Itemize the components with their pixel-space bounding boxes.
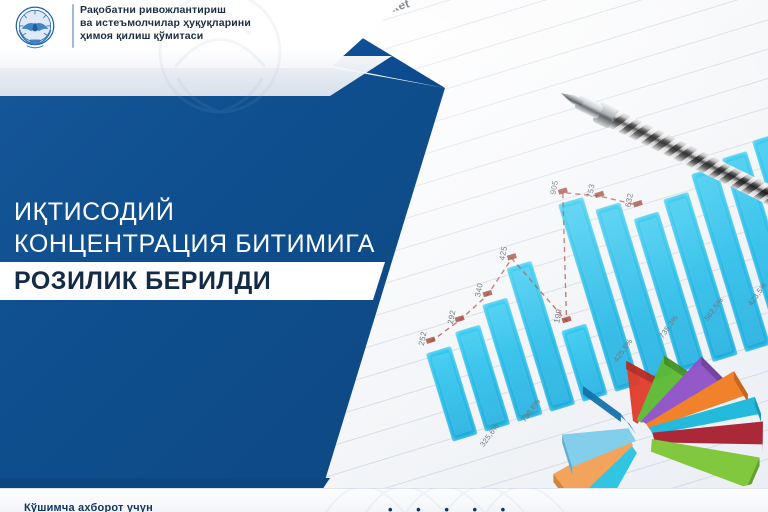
uzbekistan-state-emblem-icon: [8, 3, 62, 53]
organization-name: Рақобатни ривожлантириш ва истеъмолчилар…: [80, 4, 390, 43]
header-divider: [72, 4, 74, 48]
headline-line-3: РОЗИЛИК БЕРИЛДИ: [14, 268, 271, 295]
footer-dots: • • • • •: [388, 502, 515, 512]
organization-line-1: Рақобатни ривожлантириш: [80, 4, 390, 17]
headline-block: ИҚТИСОДИЙ КОНЦЕНТРАЦИЯ БИТИМИГА: [14, 196, 434, 260]
footer-caption: Кўшимча ахборот учун: [24, 502, 153, 512]
headline-line-1: ИҚТИСОДИЙ: [14, 196, 434, 228]
footer-band: Кўшимча ахборот учун • • • • •: [0, 488, 768, 512]
header-row: Рақобатни ривожлантириш ва истеъмолчилар…: [0, 0, 405, 58]
organization-line-3: ҳимоя қилиш қўмитаси: [80, 30, 390, 43]
organization-line-2: ва истеъмолчилар ҳуқуқларини: [80, 17, 390, 30]
slide-canvas: 252 292 340 425 199 905 753 632: [0, 0, 768, 512]
headline-line-2: КОНЦЕНТРАЦИЯ БИТИМИГА: [14, 228, 434, 260]
